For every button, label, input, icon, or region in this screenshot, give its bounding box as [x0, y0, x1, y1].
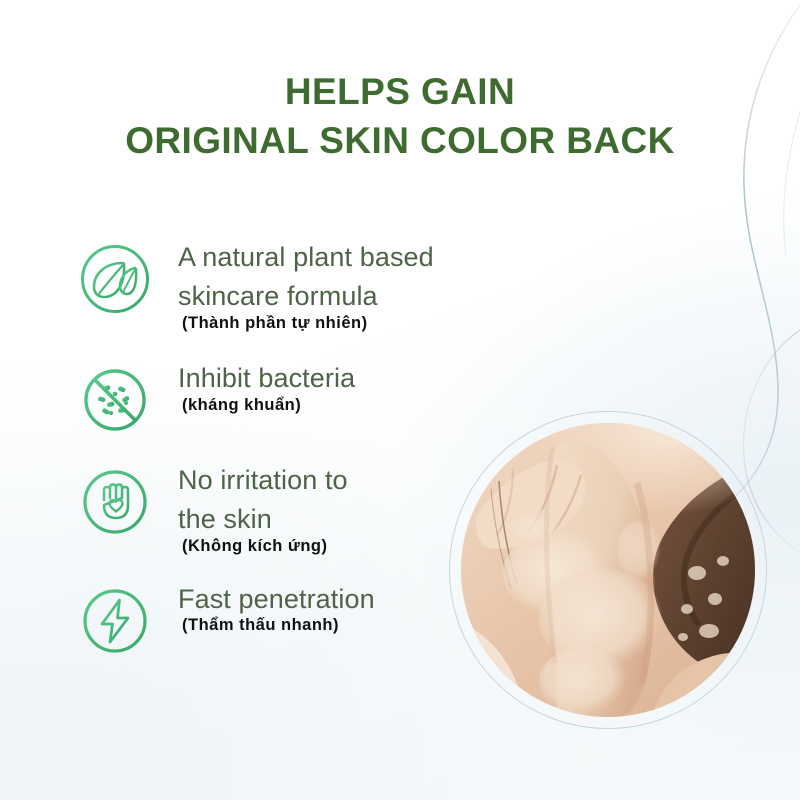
leaf-plant-icon [78, 242, 152, 316]
no-bacteria-icon [78, 363, 152, 437]
poster-canvas: HELPS GAIN ORIGINAL SKIN COLOR BACK [0, 0, 800, 800]
page-title: HELPS GAIN ORIGINAL SKIN COLOR BACK [0, 68, 800, 166]
feature-item-no-irritation: No irritation to the skin (Không kích ứn… [78, 461, 508, 556]
feature-text: Inhibit bacteria [178, 359, 508, 398]
vitiligo-skin-photo [449, 411, 767, 729]
hand-heart-icon [78, 465, 152, 539]
photo-image [461, 423, 755, 717]
headline-line-2: ORIGINAL SKIN COLOR BACK [0, 117, 800, 166]
feature-subtitle: (Thành phần tự nhiên) [182, 314, 508, 333]
headline-line-1: HELPS GAIN [0, 68, 800, 117]
feature-list: A natural plant based skincare formula (… [78, 238, 508, 642]
feature-item-natural-plant: A natural plant based skincare formula (… [78, 238, 508, 333]
feature-item-inhibit-bacteria: Inhibit bacteria (kháng khuẩn) [78, 359, 508, 421]
feature-text: A natural plant based skincare formula [178, 238, 508, 316]
lightning-bolt-icon [78, 584, 152, 658]
feature-item-fast-penetration: Fast penetration (Thẩm thấu nhanh) [78, 580, 508, 642]
